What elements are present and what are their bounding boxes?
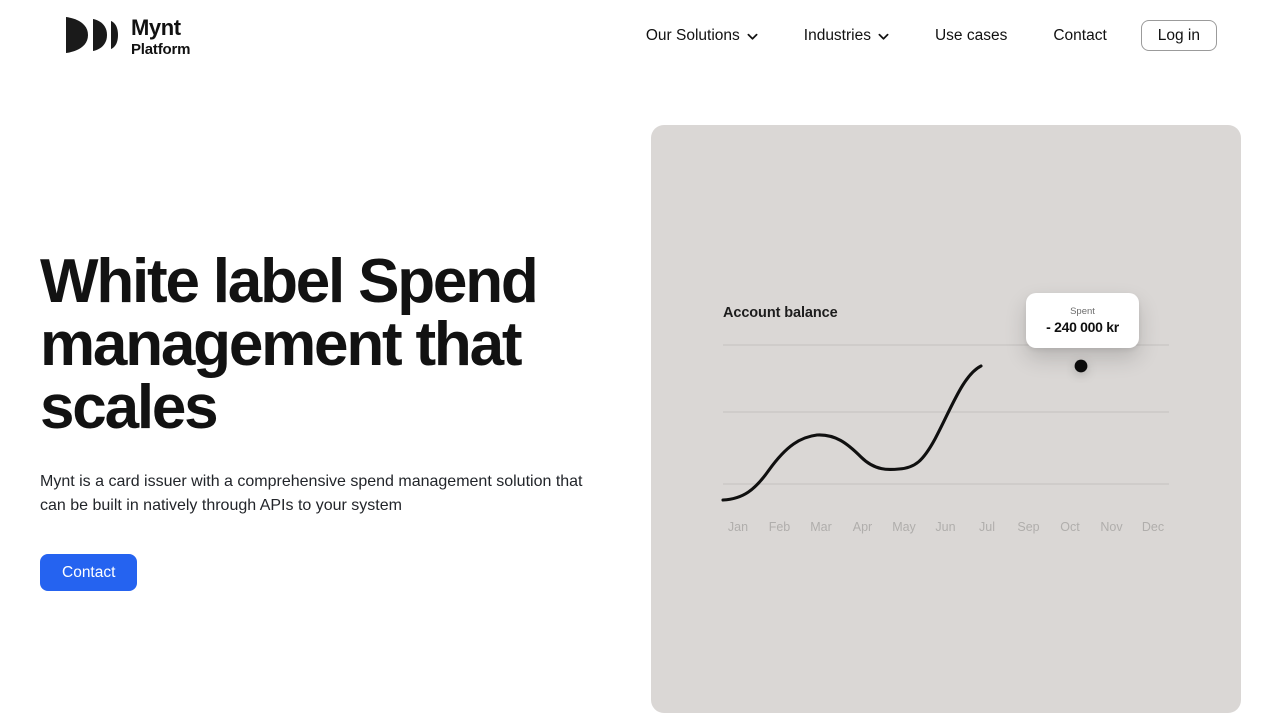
brand-subtitle: Platform <box>131 41 190 59</box>
nav-item-our-solutions[interactable]: Our Solutions <box>646 21 758 51</box>
site-header: Mynt Platform Our Solutions Industries <box>0 0 1280 71</box>
axis-tick-label: Nov <box>1097 520 1127 534</box>
tooltip-value: - 240 000 kr <box>1046 319 1119 335</box>
axis-tick-label: Jul <box>972 520 1002 534</box>
login-button[interactable]: Log in <box>1141 20 1217 51</box>
brand-text: Mynt Platform <box>131 16 190 59</box>
axis-tick-label: Mar <box>806 520 836 534</box>
account-balance-line-chart <box>651 125 1241 713</box>
axis-tick-label: Jan <box>723 520 753 534</box>
contact-cta-button[interactable]: Contact <box>40 554 137 591</box>
axis-tick-label: Feb <box>765 520 795 534</box>
nav-item-use-cases[interactable]: Use cases <box>935 21 1007 51</box>
nav-item-label: Industries <box>804 27 871 45</box>
account-balance-chart-card: Account balance <box>651 125 1241 713</box>
tooltip-label: Spent <box>1070 306 1095 317</box>
main-navigation: Our Solutions Industries Use cases <box>646 0 1217 71</box>
brand-name: Mynt <box>131 16 190 40</box>
axis-tick-label: Jun <box>931 520 961 534</box>
chart-x-axis-labels: Jan Feb Mar Apr May Jun Jul Sep Oct Nov … <box>723 520 1168 534</box>
spent-tooltip-card: Spent - 240 000 kr <box>1026 293 1139 348</box>
nav-item-label: Our Solutions <box>646 27 740 45</box>
chart-inner: Account balance <box>651 125 1241 713</box>
nav-item-label: Contact <box>1053 27 1106 45</box>
axis-tick-label: Apr <box>848 520 878 534</box>
chevron-down-icon <box>878 31 889 42</box>
mynt-three-half-discs-icon <box>64 13 119 62</box>
brand-logo-link[interactable]: Mynt Platform <box>64 13 190 62</box>
nav-item-contact[interactable]: Contact <box>1053 21 1106 51</box>
axis-tick-label: Sep <box>1014 520 1044 534</box>
axis-tick-label: May <box>889 520 919 534</box>
axis-tick-label: Oct <box>1055 520 1085 534</box>
nav-item-industries[interactable]: Industries <box>804 21 889 51</box>
hero-text-block: White label Spend management that scales… <box>40 250 640 591</box>
page-root: Mynt Platform Our Solutions Industries <box>0 0 1280 720</box>
axis-tick-label: Dec <box>1138 520 1168 534</box>
page-title: White label Spend management that scales <box>40 250 560 439</box>
chart-endpoint-dot <box>1075 360 1088 373</box>
hero-subtitle: Mynt is a card issuer with a comprehensi… <box>40 470 592 518</box>
chevron-down-icon <box>747 31 758 42</box>
chart-line-series <box>723 366 981 500</box>
nav-item-label: Use cases <box>935 27 1007 45</box>
